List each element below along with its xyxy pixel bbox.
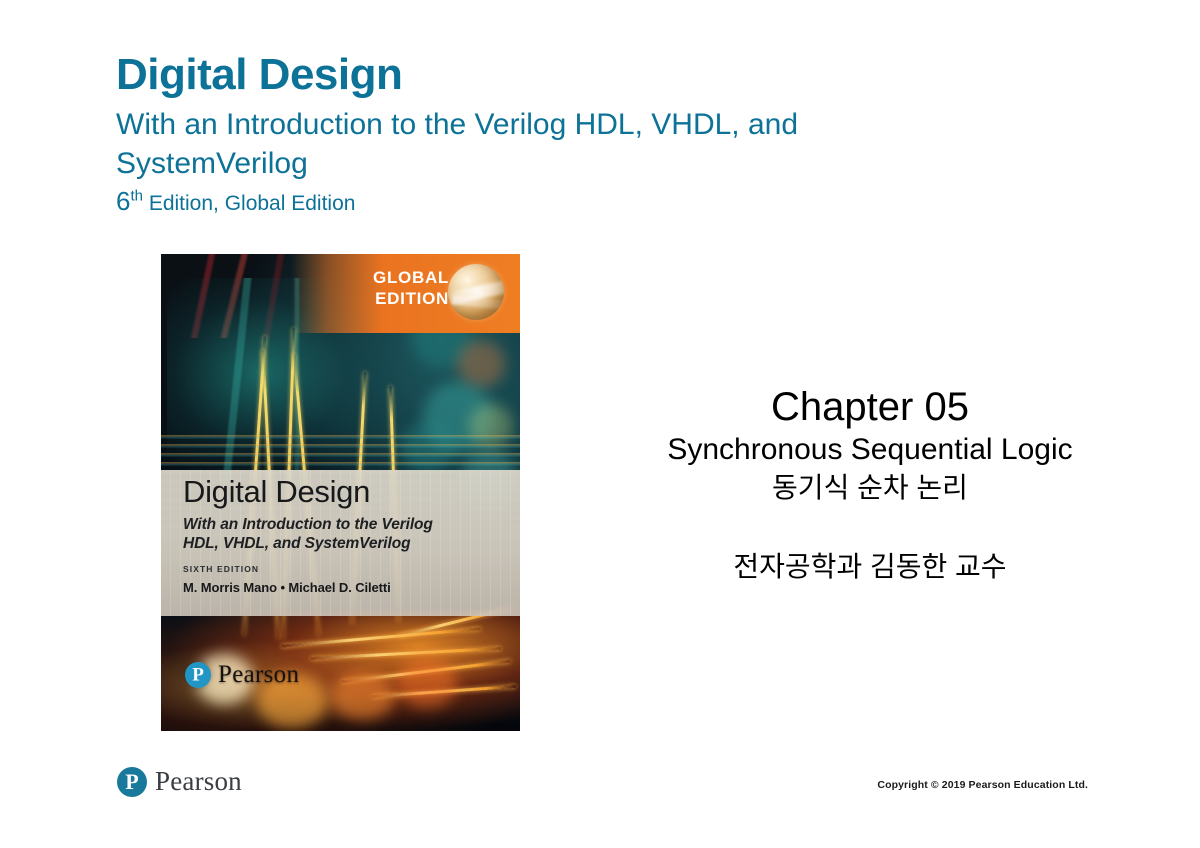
page-title: Digital Design [116, 52, 996, 99]
global-edition-label: GLOBAL EDITION [339, 268, 449, 309]
global-edition-line2: EDITION [339, 289, 449, 310]
footer-publisher-name: Pearson [155, 766, 242, 797]
cover-text-group: Digital Design With an Introduction to t… [161, 470, 520, 616]
edition-line: 6th Edition, Global Edition [116, 186, 996, 217]
cover-title: Digital Design [183, 476, 498, 509]
cover-bokeh [331, 672, 395, 720]
global-edition-line1: GLOBAL [339, 268, 449, 289]
edition-rest: Edition, Global Edition [143, 192, 355, 215]
chapter-number: Chapter 05 [615, 384, 1125, 430]
book-subtitle: With an Introduction to the Verilog HDL,… [116, 105, 946, 184]
edition-number: 6 [116, 186, 130, 216]
pearson-mark-icon [185, 662, 211, 688]
chapter-name: Synchronous Sequential Logic [615, 432, 1125, 468]
cover-bokeh [457, 340, 505, 388]
copyright-notice: Copyright © 2019 Pearson Education Ltd. [877, 779, 1088, 791]
instructor-name: 전자공학과 김동한 교수 [615, 549, 1125, 584]
edition-ordinal: th [130, 187, 143, 204]
chapter-name-korean: 동기식 순차 논리 [615, 470, 1125, 505]
globe-icon [448, 264, 504, 320]
chapter-heading-block: Chapter 05 Synchronous Sequential Logic … [615, 384, 1125, 584]
slide-canvas: Digital Design With an Introduction to t… [0, 0, 1200, 848]
global-edition-band: GLOBAL EDITION [291, 254, 520, 333]
title-block: Digital Design With an Introduction to t… [116, 52, 996, 217]
pearson-logo-icon [117, 767, 147, 797]
cover-publisher-name: Pearson [218, 661, 299, 689]
book-cover-image: Digital Design With an Introduction to t… [161, 254, 520, 731]
cover-publisher-logo: Pearson [185, 661, 299, 689]
cover-authors: M. Morris Mano • Michael D. Ciletti [183, 580, 498, 595]
footer-publisher-logo: Pearson [117, 766, 242, 797]
cover-subtitle-line1: With an Introduction to the Verilog [183, 515, 498, 535]
cover-bokeh [397, 658, 457, 708]
cover-subtitle-line2: HDL, VHDL, and SystemVerilog [183, 534, 498, 554]
cover-edition-label: SIXTH EDITION [183, 564, 498, 574]
